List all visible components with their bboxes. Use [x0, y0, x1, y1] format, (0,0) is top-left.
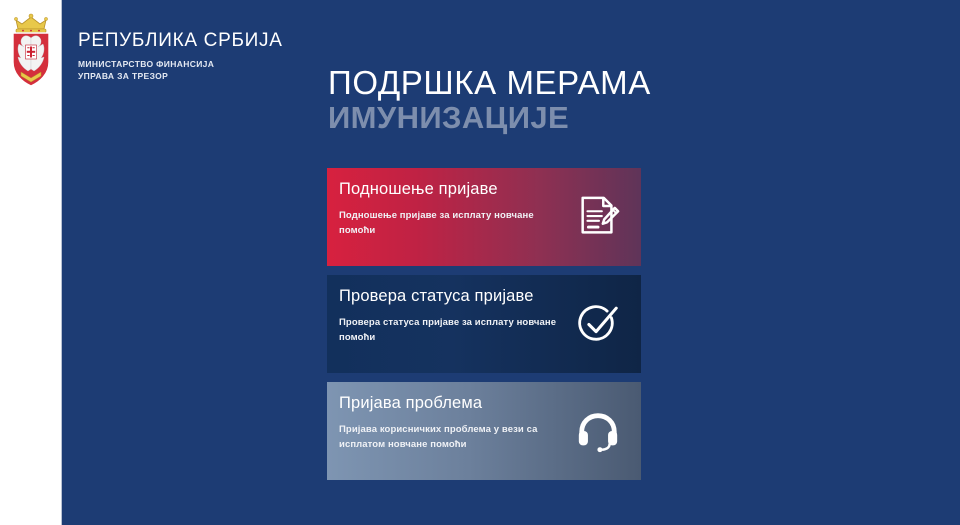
page-title: ПОДРШКА МЕРАМА ИМУНИЗАЦИЈЕ [328, 66, 651, 136]
card-title: Провера статуса пријаве [339, 286, 557, 306]
card-description: Пријава корисничких проблема у вези са и… [339, 422, 557, 452]
page-title-line2: ИМУНИЗАЦИЈЕ [328, 100, 651, 136]
card-title: Пријава проблема [339, 393, 557, 413]
app-root: РЕПУБЛИКА СРБИЈА МИНИСТАРСТВО ФИНАНСИЈА … [0, 0, 960, 525]
card-text: Пријава проблема Пријава корисничких про… [339, 393, 557, 452]
card-report-problem[interactable]: Пријава проблема Пријава корисничких про… [327, 382, 641, 480]
brand-subtitle-line1: МИНИСТАРСТВО ФИНАНСИЈА [78, 58, 283, 70]
card-description: Провера статуса пријаве за исплату новча… [339, 315, 557, 345]
headset-support-icon [573, 406, 623, 456]
left-panel [0, 0, 62, 525]
page-title-line1: ПОДРШКА МЕРАМА [328, 66, 651, 100]
card-text: Подношење пријаве Подношење пријаве за и… [339, 179, 557, 238]
brand-block: РЕПУБЛИКА СРБИЈА МИНИСТАРСТВО ФИНАНСИЈА … [78, 30, 283, 82]
card-description: Подношење пријаве за исплату новчане пом… [339, 208, 557, 238]
card-check-status[interactable]: Провера статуса пријаве Провера статуса … [327, 275, 641, 373]
card-submit-application[interactable]: Подношење пријаве Подношење пријаве за и… [327, 168, 641, 266]
check-circle-icon [573, 299, 623, 349]
document-pencil-icon [573, 192, 623, 242]
action-card-list: Подношење пријаве Подношење пријаве за и… [327, 168, 641, 480]
brand-subtitle: МИНИСТАРСТВО ФИНАНСИЈА УПРАВА ЗА ТРЕЗОР [78, 58, 283, 82]
serbia-coat-of-arms-icon [7, 12, 55, 88]
brand-subtitle-line2: УПРАВА ЗА ТРЕЗОР [78, 70, 283, 82]
brand-title: РЕПУБЛИКА СРБИЈА [78, 30, 283, 52]
card-title: Подношење пријаве [339, 179, 557, 199]
card-text: Провера статуса пријаве Провера статуса … [339, 286, 557, 345]
